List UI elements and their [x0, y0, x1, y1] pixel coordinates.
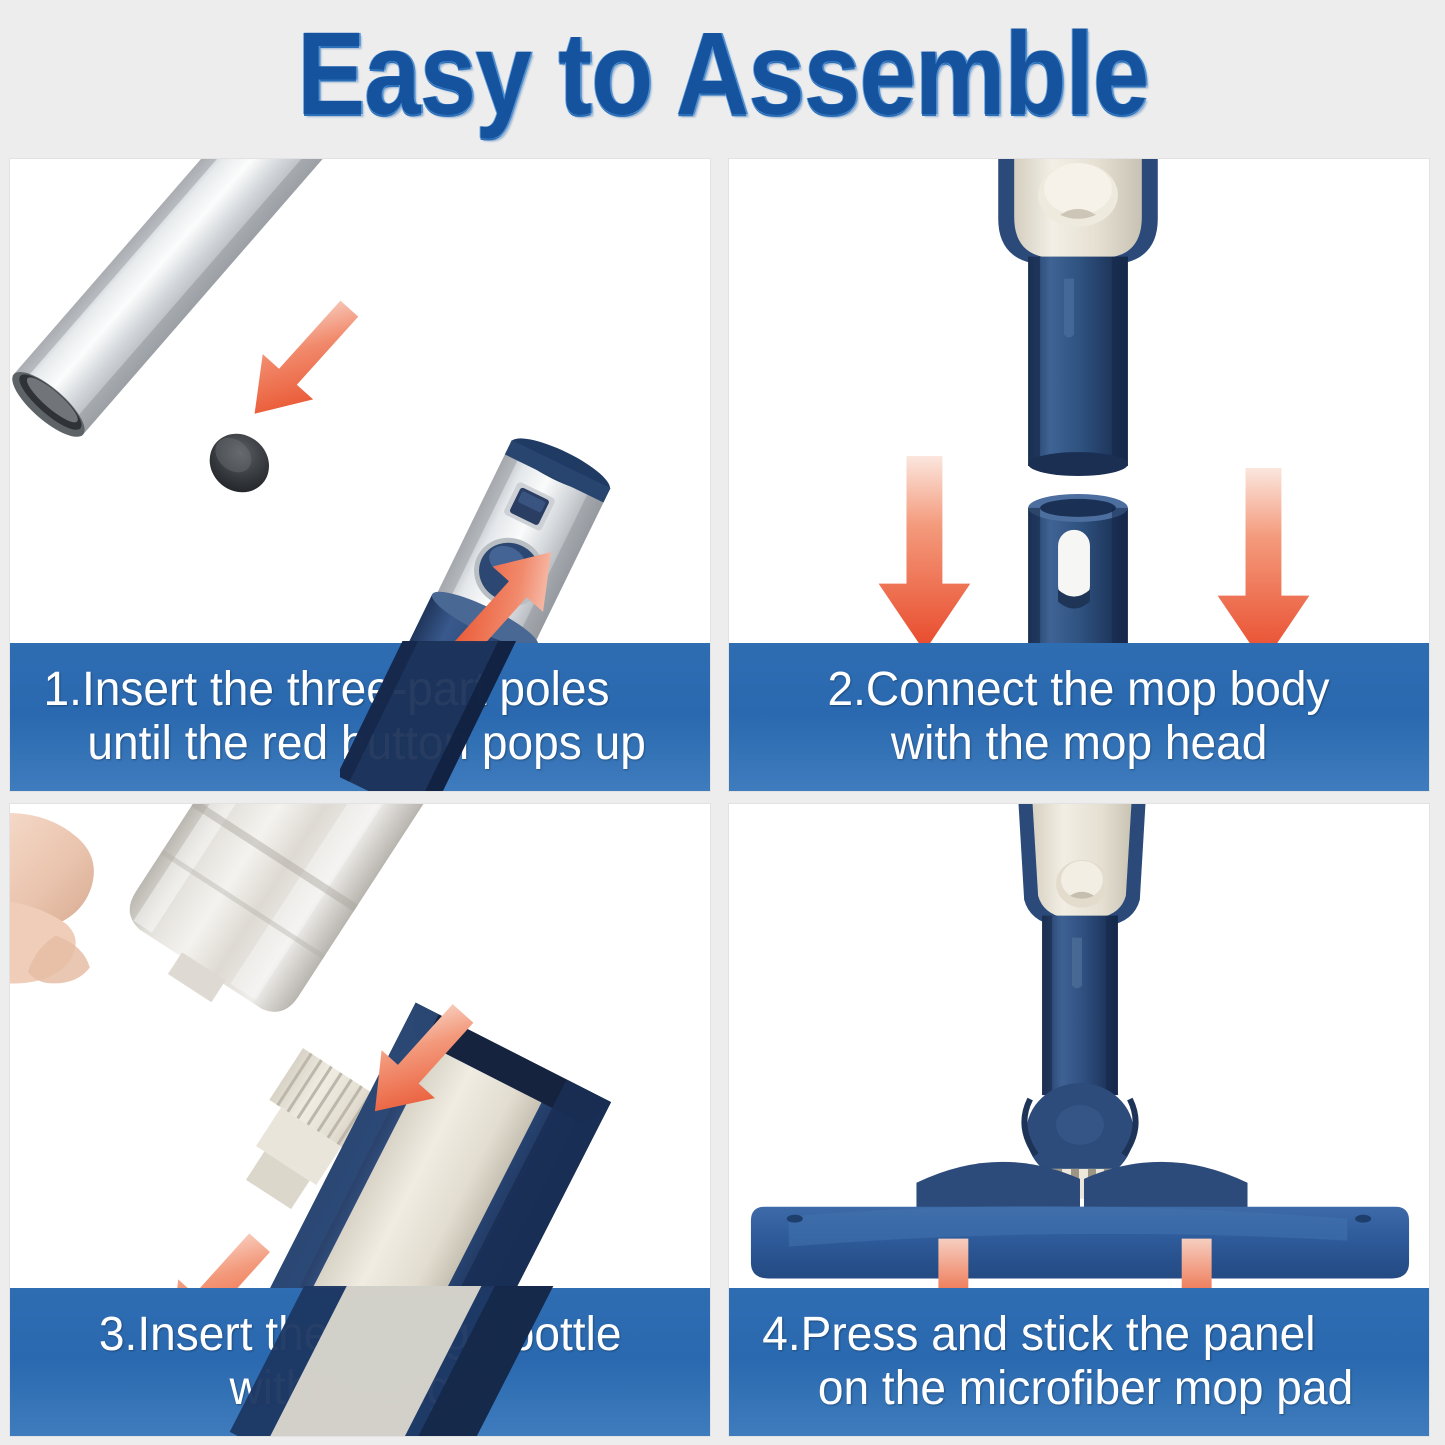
socket-slot: [1058, 530, 1090, 602]
caption-line-2: on the microfiber mop pad: [805, 1362, 1354, 1416]
panel-connect-body-head: 2.Connect the mop body with the mop head: [728, 158, 1430, 792]
caption-line-2: with the mop head: [891, 717, 1268, 771]
caption-line-1: 1.Insert the three-part poles: [30, 663, 610, 717]
navy-neck: [1042, 916, 1118, 1095]
panel-attach-pad: 4.Press and stick the panel on the micro…: [728, 803, 1430, 1437]
caption-banner-4: 4.Press and stick the panel on the micro…: [729, 1288, 1429, 1436]
navy-lower-shaft: [1028, 257, 1128, 476]
caption-banner-1: 1.Insert the three-part poles until the …: [10, 643, 710, 791]
panel-grid: 1.Insert the three-part poles until the …: [0, 148, 1445, 1445]
panel-insert-poles: 1.Insert the three-part poles until the …: [9, 158, 711, 792]
caption-line-1: 4.Press and stick the panel: [749, 1308, 1316, 1362]
caption-banner-2: 2.Connect the mop body with the mop head: [729, 643, 1429, 791]
page-title: Easy to Assemble: [297, 15, 1148, 133]
cream-sprayer-housing: [998, 159, 1158, 263]
cream-housing-with-button: [1016, 804, 1148, 926]
caption-line-2: with strength: [229, 1362, 490, 1416]
caption-line-1: 2.Connect the mop body: [828, 663, 1330, 717]
caption-line-2: until the red button pops up: [74, 717, 646, 771]
panel-insert-bottle: 3.Insert the storage bottle with strengt…: [9, 803, 711, 1437]
title-bar: Easy to Assemble: [0, 0, 1445, 148]
caption-line-1: 3.Insert the storage bottle: [99, 1308, 622, 1362]
infographic-page: Easy to Assemble: [0, 0, 1445, 1445]
caption-banner-3: 3.Insert the storage bottle with strengt…: [10, 1288, 710, 1436]
